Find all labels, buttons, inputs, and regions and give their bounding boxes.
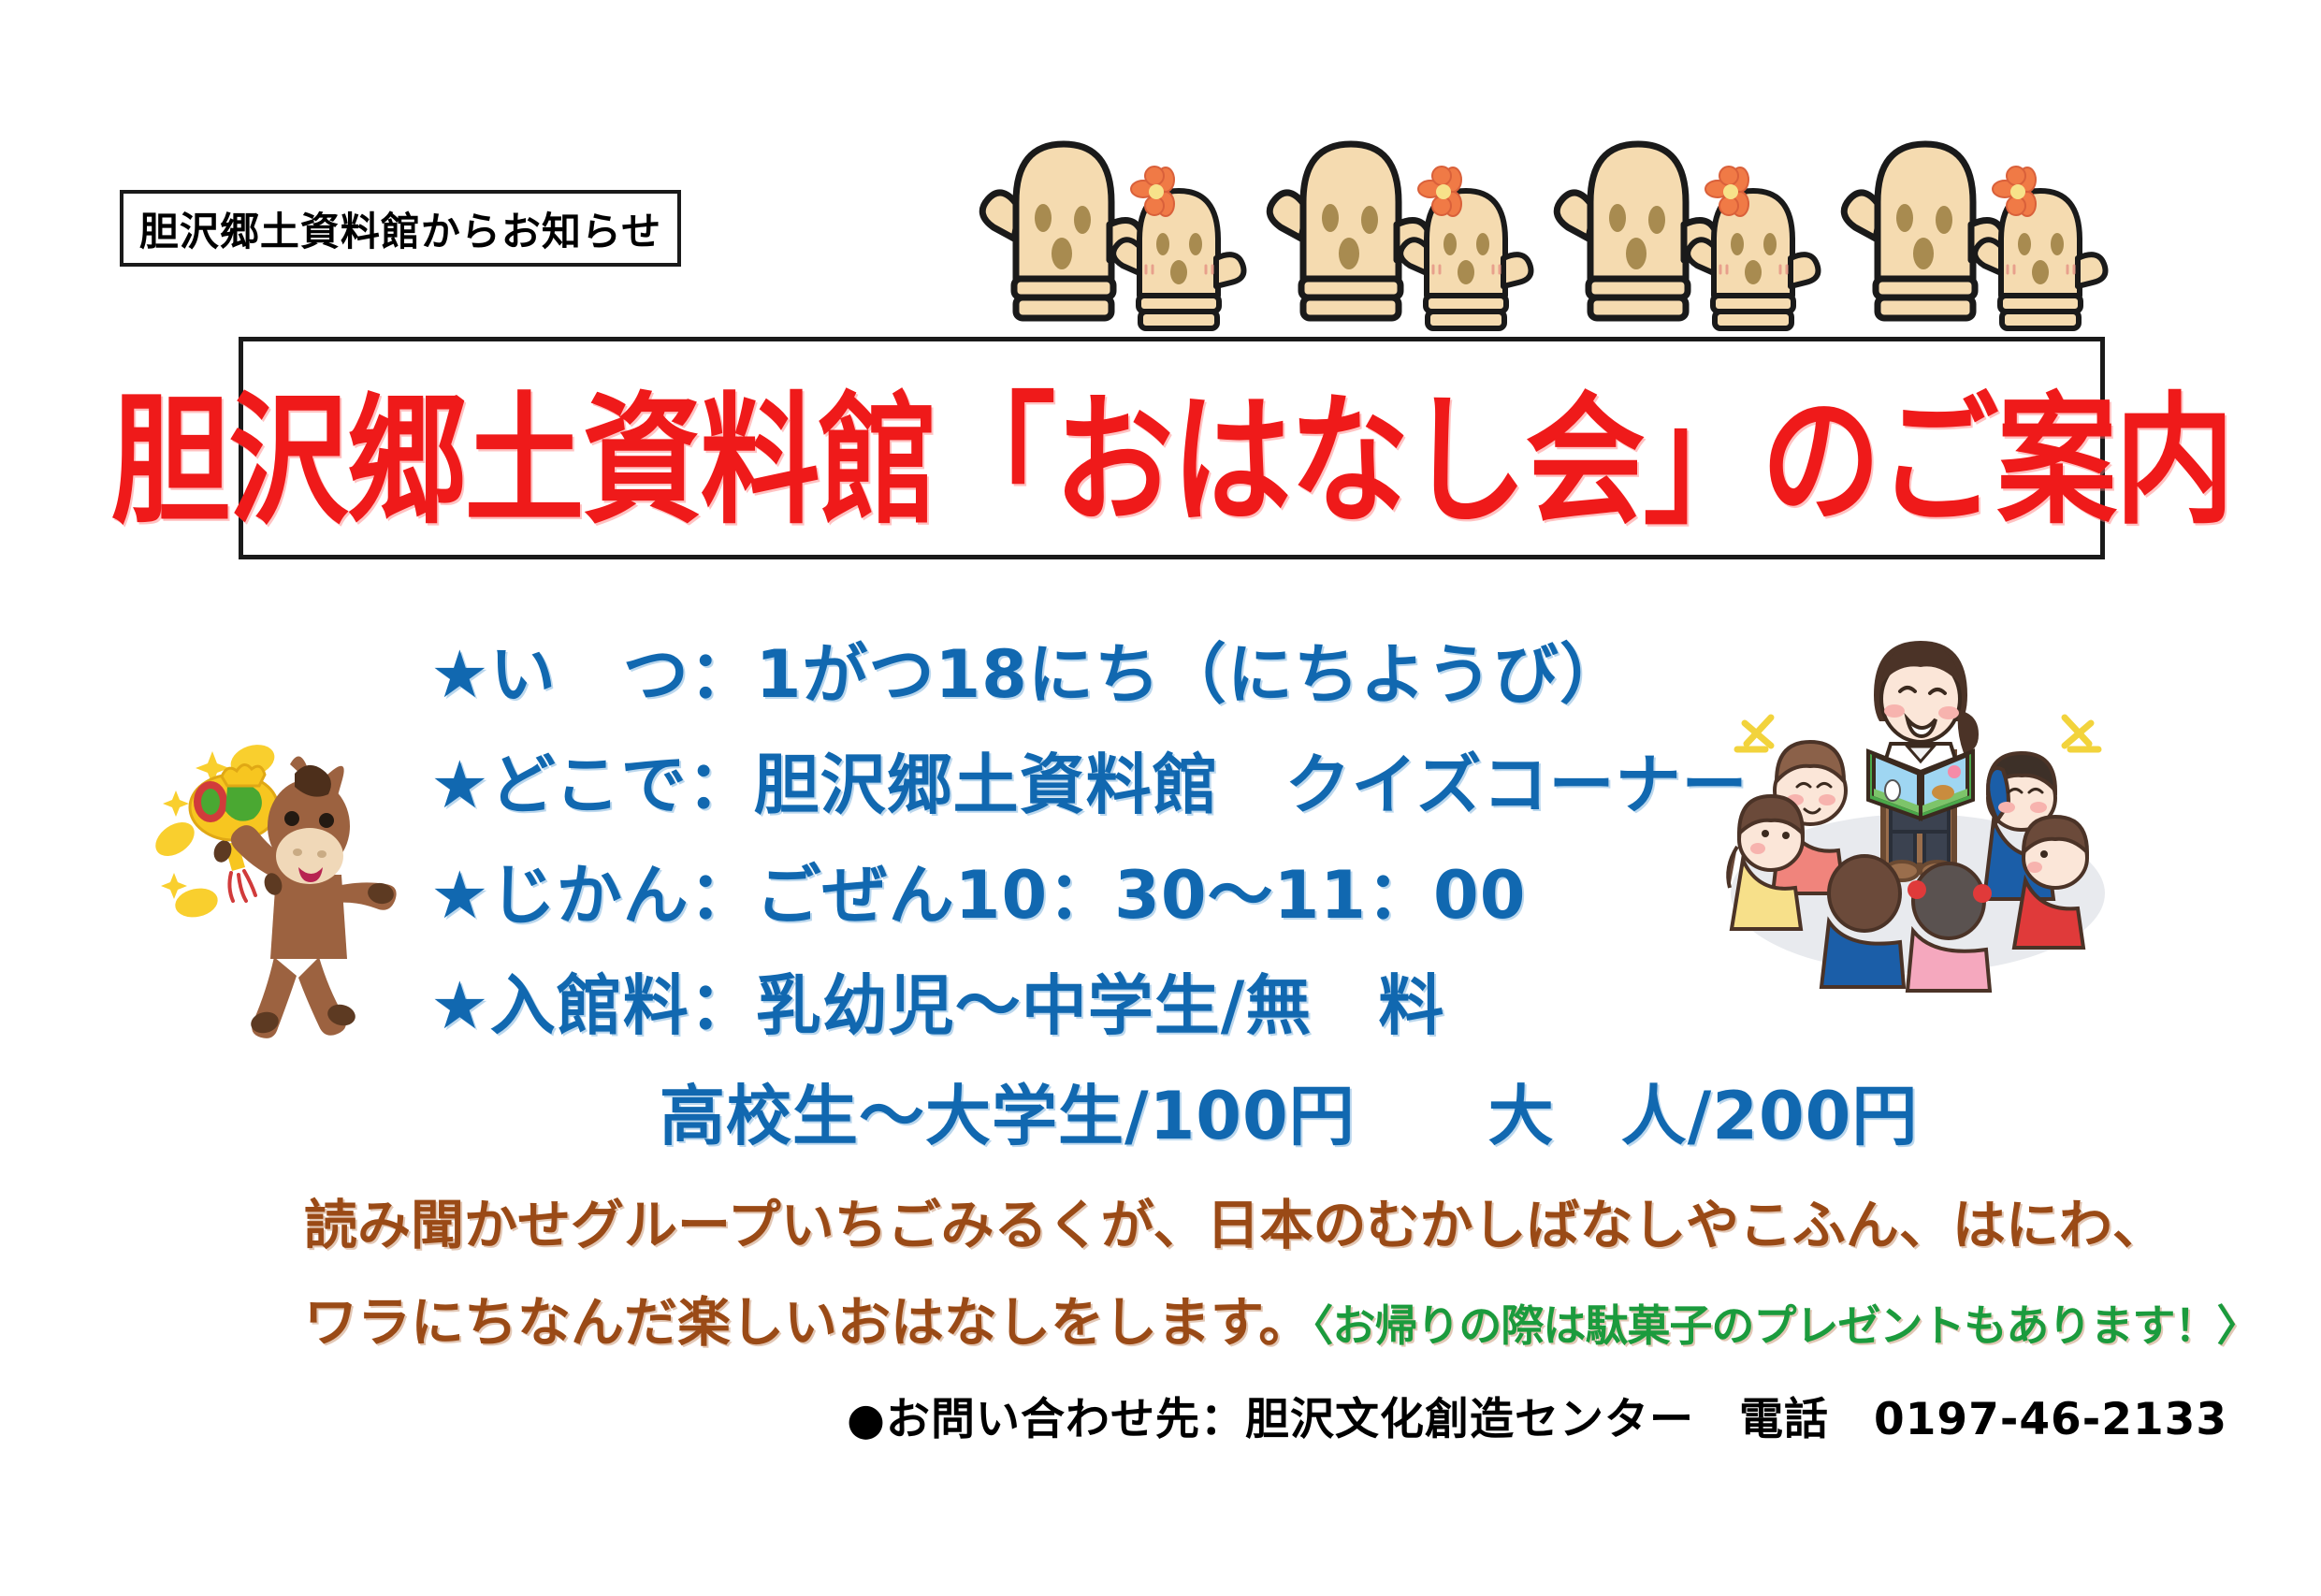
event-detail-admission: ★入館料：乳幼児～中学生/無 料 (430, 950, 1740, 1061)
mitten-pair (973, 120, 1260, 330)
page-title: 胆沢郷土資料館「おはなし会」のご案内 (111, 346, 2233, 550)
candy-gift-note: 〈お帰りの際は駄菓子のプレゼントもあります！〉 (1312, 1300, 2258, 1351)
storytime-reading-icon (1717, 613, 2119, 982)
description-line-2: ワラにちなんだ楽しいおはなしをします。〈お帰りの際は駄菓子のプレゼントもあります… (304, 1274, 2082, 1374)
main-title-box: 胆沢郷土資料館「おはなし会」のご案内 (239, 337, 2105, 559)
storytime-illustration (1717, 613, 2119, 982)
description-line-2-main: ワラにちなんだ楽しいおはなしをします。 (304, 1292, 1312, 1354)
notice-banner: 胆沢郷土資料館からお知らせ (120, 190, 681, 267)
event-detail-place: ★どこで：胆沢郷土資料館 クイズコーナー (430, 730, 1740, 840)
event-detail-admission-prices: 高校生～大学生/100円 大 人/200円 (430, 1061, 1740, 1171)
description-block: 読み聞かせグループいちごみるくが、日本のむかしばなしやこふん、はにわ、 ワラにち… (304, 1177, 2082, 1374)
mitten-characters-icon (1547, 120, 1835, 330)
mitten-characters-icon (1835, 120, 2122, 330)
mitten-characters-strip (973, 120, 2124, 330)
poster-canvas: 胆沢郷土資料館からお知らせ (0, 0, 2321, 1596)
horse-with-lucky-mallet-icon (145, 725, 454, 1043)
horse-illustration (145, 725, 454, 1043)
event-details-list: ★い つ：1がつ18にち（にちようび） ★どこで：胆沢郷土資料館 クイズコーナー… (430, 619, 1740, 1171)
mitten-characters-icon (1260, 120, 1547, 330)
event-detail-time: ★じかん：ごぜん10：30～11：00 (430, 840, 1740, 950)
event-detail-date: ★い つ：1がつ18にち（にちようび） (430, 619, 1740, 730)
description-line-1: 読み聞かせグループいちごみるくが、日本のむかしばなしやこふん、はにわ、 (304, 1177, 2082, 1274)
mitten-pair (1547, 120, 1835, 330)
contact-info: ●お問い合わせ先：胆沢文化創造センター 電話 0197-46-2133 (847, 1383, 2227, 1447)
mitten-pair (1835, 120, 2122, 330)
mitten-characters-icon (973, 120, 1260, 330)
mitten-pair (1260, 120, 1547, 330)
notice-banner-label: 胆沢郷土資料館からお知らせ (139, 200, 661, 257)
